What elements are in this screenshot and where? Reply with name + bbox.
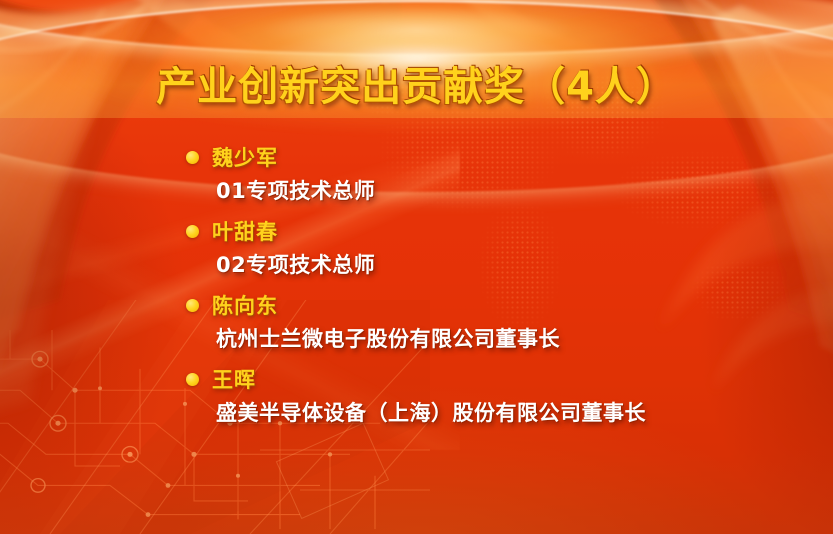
recipient-header: 王晖 <box>186 364 793 394</box>
recipient-header: 叶甜春 <box>186 216 793 246</box>
gold-dot-icon <box>186 373 199 386</box>
recipient-role: 02专项技术总师 <box>216 249 793 279</box>
recipient-header: 陈向东 <box>186 290 793 320</box>
award-slide: 产业创新突出贡献奖（4人） 魏少军 01专项技术总师 叶甜春 02专项技术总师 <box>0 0 833 534</box>
gold-dot-icon <box>186 151 199 164</box>
gold-dot-icon <box>186 225 199 238</box>
recipient-name: 王晖 <box>212 364 256 394</box>
recipient-name: 叶甜春 <box>212 216 278 246</box>
slide-content: 产业创新突出贡献奖（4人） 魏少军 01专项技术总师 叶甜春 02专项技术总师 <box>0 0 833 534</box>
recipient-role: 杭州士兰微电子股份有限公司董事长 <box>216 323 793 353</box>
list-item: 王晖 盛美半导体设备（上海）股份有限公司董事长 <box>186 364 793 427</box>
list-item: 魏少军 01专项技术总师 <box>186 142 793 205</box>
slide-title: 产业创新突出贡献奖（4人） <box>0 54 833 112</box>
recipient-name: 陈向东 <box>212 290 278 320</box>
recipient-name: 魏少军 <box>212 142 278 172</box>
recipient-header: 魏少军 <box>186 142 793 172</box>
list-item: 叶甜春 02专项技术总师 <box>186 216 793 279</box>
recipient-role: 盛美半导体设备（上海）股份有限公司董事长 <box>216 397 793 427</box>
recipient-list: 魏少军 01专项技术总师 叶甜春 02专项技术总师 陈向东 杭州士兰微电子股份有… <box>186 142 793 438</box>
recipient-role: 01专项技术总师 <box>216 175 793 205</box>
gold-dot-icon <box>186 299 199 312</box>
list-item: 陈向东 杭州士兰微电子股份有限公司董事长 <box>186 290 793 353</box>
